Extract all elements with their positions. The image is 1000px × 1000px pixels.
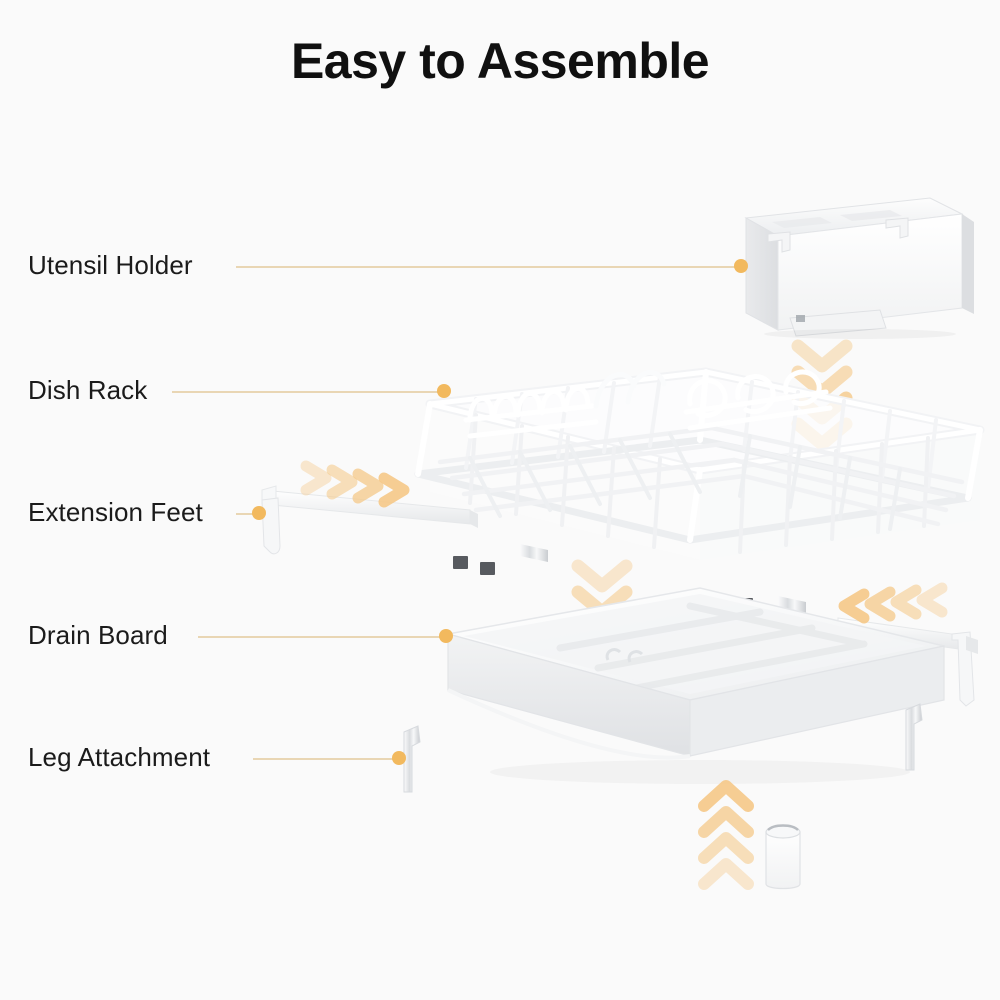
- part-dish-rack: [418, 372, 980, 614]
- leader-line-leg-attachment: [253, 758, 399, 760]
- leader-line-drain-board: [198, 636, 446, 638]
- callout-label-extension-feet: Extension Feet: [28, 497, 203, 528]
- leader-dot-utensil-holder: [734, 259, 748, 273]
- leader-line-utensil-holder: [236, 266, 741, 268]
- leader-dot-dish-rack: [437, 384, 451, 398]
- part-drain-board: [448, 588, 944, 784]
- leader-dot-drain-board: [439, 629, 453, 643]
- page-title: Easy to Assemble: [0, 32, 1000, 90]
- leg-attachment-up-arrows: [704, 786, 748, 884]
- part-leg-attachment-bottom: [766, 826, 800, 889]
- leader-line-dish-rack: [172, 391, 444, 393]
- callout-label-dish-rack: Dish Rack: [28, 375, 147, 406]
- part-leg-attachment-left: [404, 726, 420, 792]
- leader-dot-leg-attachment: [392, 751, 406, 765]
- leader-dot-extension-feet: [252, 506, 266, 520]
- assembly-diagram-canvas: Easy to Assemble Utensil Holder Dish Rac…: [0, 0, 1000, 1000]
- callout-label-utensil-holder: Utensil Holder: [28, 250, 193, 281]
- extension-foot-right-left-arrows: [844, 588, 942, 618]
- part-utensil-holder: [746, 198, 974, 339]
- part-leg-attachment-right: [906, 704, 922, 770]
- callout-label-drain-board: Drain Board: [28, 620, 168, 651]
- callout-label-leg-attachment: Leg Attachment: [28, 742, 210, 773]
